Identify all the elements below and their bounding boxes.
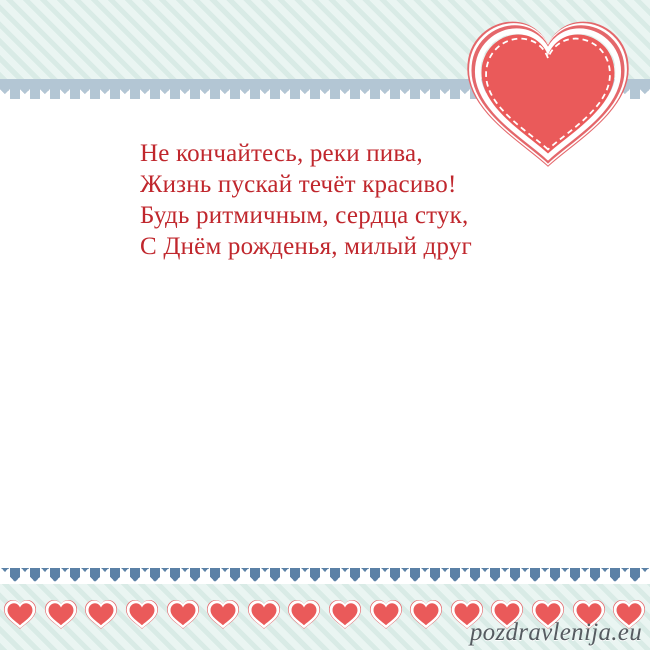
small-heart-icon	[162, 599, 203, 629]
small-heart-icon	[284, 599, 325, 629]
poem-line-3: Будь ритмичным, сердца стук,	[140, 200, 560, 231]
small-heart-icon	[122, 599, 163, 629]
small-heart-icon	[244, 599, 285, 629]
small-heart-icon	[406, 599, 447, 629]
greeting-card: Не кончайтесь, реки пива, Жизнь пускай т…	[0, 0, 650, 650]
poem-line-1: Не кончайтесь, реки пива,	[140, 138, 560, 169]
poem-text: Не кончайтесь, реки пива, Жизнь пускай т…	[140, 138, 560, 262]
poem-line-4: С Днём рожденья, милый друг	[140, 231, 560, 262]
small-heart-icon	[41, 599, 82, 629]
small-heart-icon	[0, 599, 41, 629]
poem-line-2: Жизнь пускай течёт красиво!	[140, 169, 560, 200]
bottom-zigzag-border	[0, 568, 650, 585]
small-heart-icon	[365, 599, 406, 629]
small-heart-icon	[325, 599, 366, 629]
watermark-label: pozdravlenija.eu	[470, 619, 642, 647]
small-heart-icon	[81, 599, 122, 629]
small-heart-icon	[203, 599, 244, 629]
